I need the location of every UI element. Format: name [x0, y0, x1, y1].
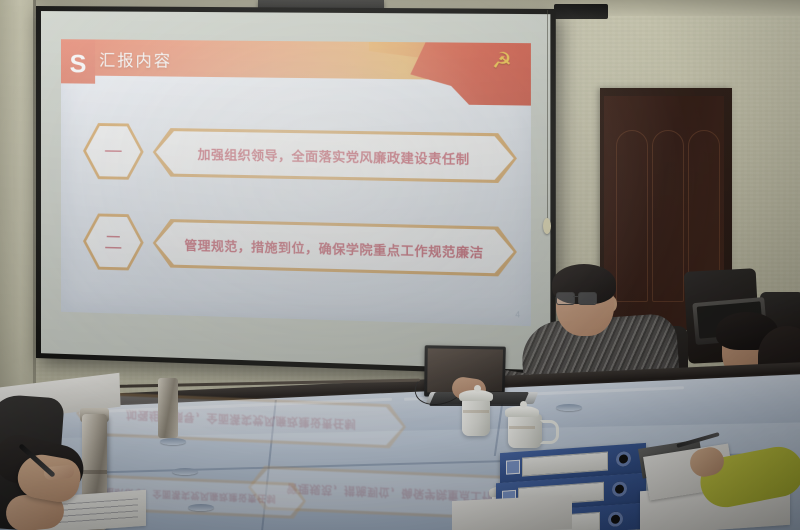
meeting-room-photo: ☭ S 汇报内容 一 加强组织领导，全面落实党风廉政建设责任制: [0, 0, 800, 530]
scene-vignette: [0, 0, 800, 530]
